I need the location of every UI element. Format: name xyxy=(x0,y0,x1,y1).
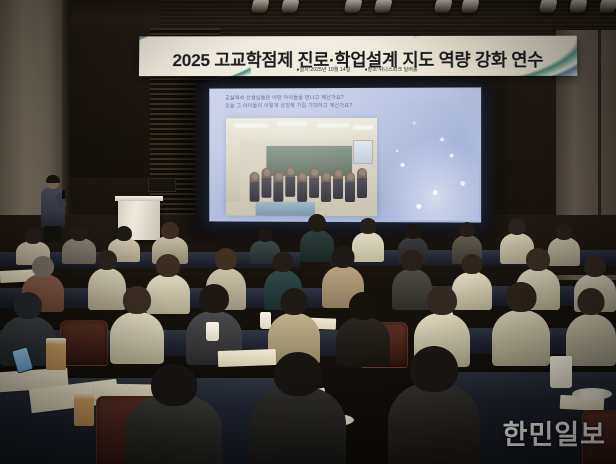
photo-student xyxy=(273,172,283,202)
photo-student xyxy=(309,168,319,198)
person-head xyxy=(349,292,377,320)
person-head xyxy=(71,225,88,241)
slide-classroom-photo xyxy=(226,118,377,216)
paper-cup xyxy=(206,322,219,341)
slide-sparkle xyxy=(396,150,398,152)
person-head xyxy=(459,222,475,237)
person-head xyxy=(14,292,42,319)
person-head xyxy=(281,288,308,315)
photo-student xyxy=(357,168,367,198)
photo-student xyxy=(261,168,271,198)
audience-member-foreground xyxy=(126,364,222,464)
photo-cabinet xyxy=(226,136,240,202)
person-head xyxy=(578,288,605,315)
paper-cup xyxy=(550,356,572,388)
event-banner: 2025 고교학점제 진로·학업설계 지도 역량 강화 연수 ●일시:2025년… xyxy=(139,36,577,76)
photo-student xyxy=(321,172,331,202)
photo-student xyxy=(285,167,295,197)
person-head xyxy=(123,286,151,314)
banner-date-value: 2025년 10월 14일 xyxy=(310,67,350,73)
audience-member xyxy=(492,282,550,364)
person-head xyxy=(199,284,229,313)
slide-sparkle xyxy=(413,122,415,124)
iced-coffee-cup xyxy=(46,338,66,370)
person-head xyxy=(462,254,483,274)
person-head xyxy=(427,286,457,315)
audience-member xyxy=(566,288,616,364)
person-head xyxy=(509,218,526,235)
photo-student xyxy=(345,172,355,202)
person-body xyxy=(110,312,164,364)
plate xyxy=(572,388,612,400)
person-head xyxy=(584,256,606,277)
person-head xyxy=(506,282,537,312)
slide-blossom-graphic xyxy=(370,128,479,221)
photo-student xyxy=(297,172,307,202)
person-head xyxy=(526,248,550,271)
person-head xyxy=(116,226,132,241)
projection-screen: 교실에서 선생님들은 어떤 아이들을 만나고 계신가요? 오늘 그 아이들이 어… xyxy=(209,87,481,222)
person-head xyxy=(405,224,421,239)
person-body xyxy=(566,314,616,366)
person-head xyxy=(151,364,197,406)
photograph-scene: 교실에서 선생님들은 어떤 아이들을 만나고 계신가요? 오늘 그 아이들이 어… xyxy=(0,0,616,464)
person-head xyxy=(156,254,180,277)
person-body xyxy=(492,310,550,366)
newspaper-watermark: 한민일보 xyxy=(503,413,606,452)
person-head xyxy=(32,256,54,277)
photo-ceiling-light xyxy=(234,124,268,127)
person-head xyxy=(97,250,117,270)
banner-date-label: 일시 xyxy=(300,67,309,73)
audience-member-foreground xyxy=(388,346,480,464)
person-body xyxy=(388,382,480,464)
banner-subtitle: ●일시:2025년 10월 14일●장소:위니스파크 딜버홀 xyxy=(139,66,577,73)
banner-place-label: 장소 xyxy=(368,67,377,73)
person-head xyxy=(273,252,294,272)
person-head xyxy=(401,250,423,271)
person-body xyxy=(250,386,346,464)
photo-ceiling-light xyxy=(277,122,307,125)
person-head xyxy=(360,218,377,234)
person-head xyxy=(274,352,322,396)
audience-member xyxy=(110,286,164,360)
person-head xyxy=(215,248,237,270)
banner-place-value: 위니스파크 딜버홀 xyxy=(379,67,418,73)
wall-control-panel xyxy=(148,178,176,192)
person-head xyxy=(556,224,573,240)
person-head xyxy=(25,228,42,244)
person-head xyxy=(258,228,273,242)
presenter-hair xyxy=(46,175,60,183)
ceiling-spotlight xyxy=(599,0,616,13)
microphone xyxy=(62,190,65,199)
audience-member-foreground xyxy=(250,352,346,464)
slide-line-2: 오늘 그 아이들이 어떻게 성장해 가길 기대하고 계신가요? xyxy=(225,103,471,111)
photo-ceiling-light xyxy=(317,124,349,127)
person-head xyxy=(410,346,458,392)
photo-student xyxy=(250,172,260,202)
person-head xyxy=(332,246,355,268)
chair xyxy=(60,320,108,366)
person-head xyxy=(308,214,326,232)
slide-sparkle xyxy=(441,138,444,141)
person-head xyxy=(161,222,179,239)
photo-student xyxy=(333,169,343,199)
iced-coffee-cup xyxy=(74,392,94,426)
lectern-top xyxy=(115,196,163,201)
